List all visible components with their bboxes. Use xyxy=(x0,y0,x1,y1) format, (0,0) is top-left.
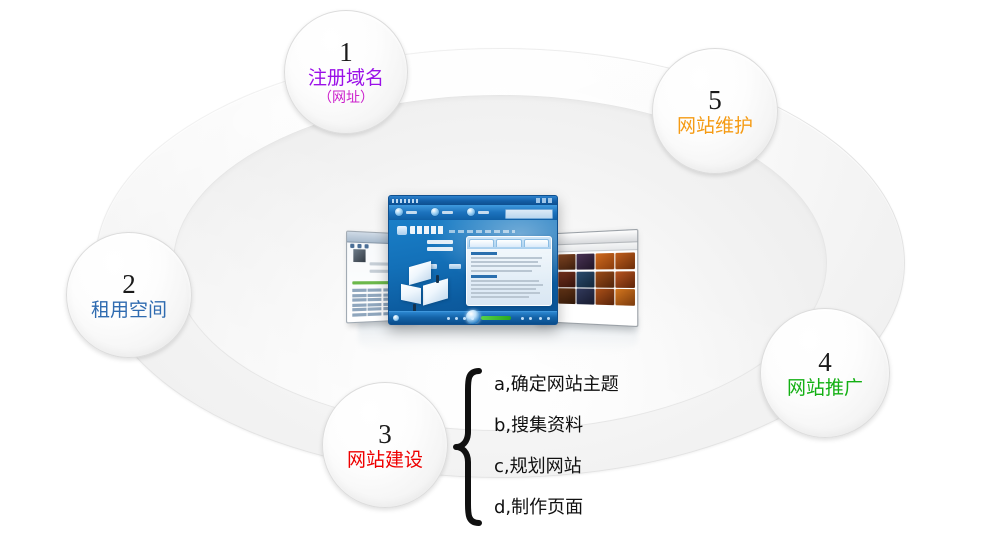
site-logo-text xyxy=(410,226,444,234)
main-window-titlebar xyxy=(389,196,557,205)
process-node-5[interactable]: 5 网站维护 xyxy=(652,48,778,174)
left-window-thumbnail xyxy=(353,249,365,262)
list-item: d,制作页面 xyxy=(494,499,734,517)
main-window-search-box xyxy=(505,209,553,219)
person-figure xyxy=(436,275,439,283)
node-number: 5 xyxy=(708,85,722,115)
list-item: b,搜集资料 xyxy=(494,417,734,435)
diagram-canvas: 1 注册域名 （网址） 2 租用空间 3 网站建设 4 网站推广 5 网站维护 … xyxy=(0,0,1000,550)
progress-slider xyxy=(481,316,511,320)
cube-shape xyxy=(401,284,421,304)
panel-section xyxy=(471,275,547,299)
process-node-2[interactable]: 2 租用空间 xyxy=(66,232,192,358)
process-node-3[interactable]: 3 网站建设 xyxy=(322,382,448,508)
content-panel xyxy=(466,236,552,306)
node-sublabel: （网址） xyxy=(318,91,374,107)
node-label: 网站建设 xyxy=(347,450,423,471)
screen-cluster-image xyxy=(340,190,650,350)
login-form xyxy=(413,240,461,260)
panel-tabs xyxy=(467,237,551,249)
node-number: 1 xyxy=(339,37,353,67)
main-window-page xyxy=(389,220,557,312)
main-window-toolbar xyxy=(389,205,557,221)
home-icon xyxy=(393,315,399,321)
node-label: 网站维护 xyxy=(677,116,753,137)
node-number: 4 xyxy=(818,347,832,377)
process-node-4[interactable]: 4 网站推广 xyxy=(760,308,890,438)
node-label: 注册域名 xyxy=(308,68,384,89)
site-nav xyxy=(449,230,515,233)
main-window xyxy=(388,195,558,325)
list-item: c,规划网站 xyxy=(494,458,734,476)
process-node-1[interactable]: 1 注册域名 （网址） xyxy=(284,10,408,134)
node-label: 网站推广 xyxy=(787,378,863,399)
sub-step-list: a,确定网站主题 b,搜集资料 c,规划网站 d,制作页面 xyxy=(494,376,734,517)
list-item: a,确定网站主题 xyxy=(494,376,734,394)
main-window-taskbar xyxy=(389,311,557,324)
node-label: 租用空间 xyxy=(91,300,167,321)
site-logo-icon xyxy=(397,226,407,235)
node-number: 3 xyxy=(378,419,392,449)
panel-section xyxy=(471,252,547,272)
node-number: 2 xyxy=(122,269,136,299)
